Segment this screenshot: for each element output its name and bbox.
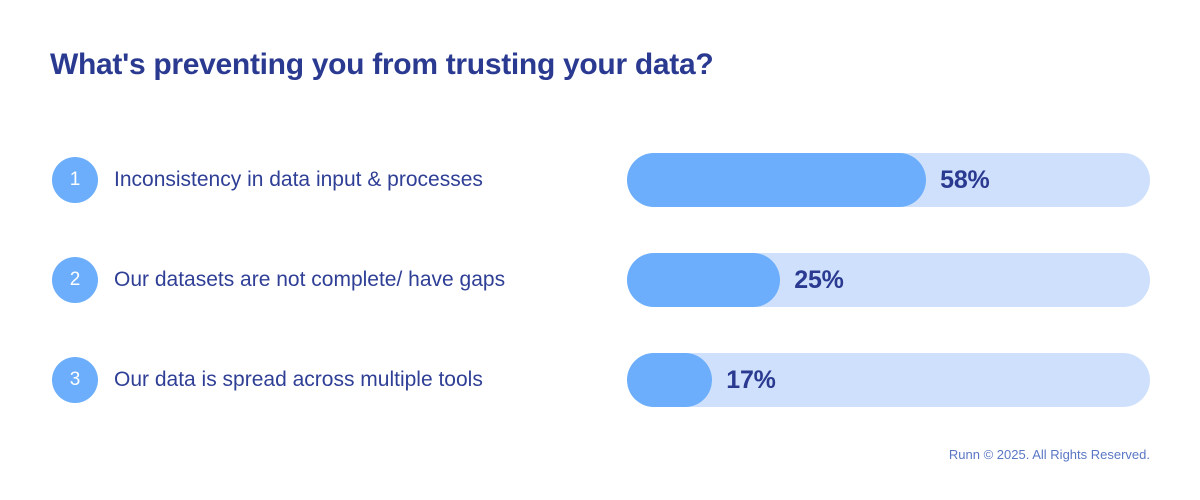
bar-category-label: Our datasets are not complete/ have gaps: [114, 253, 505, 307]
bar-chart: 1 Inconsistency in data input & processe…: [0, 153, 1200, 453]
rank-badge: 2: [52, 257, 98, 303]
bar-category-label: Inconsistency in data input & processes: [114, 153, 483, 207]
rank-badge: 1: [52, 157, 98, 203]
bar-track: 58%: [627, 153, 1150, 207]
bar-value-label: 25%: [794, 253, 843, 307]
bar-track: 17%: [627, 353, 1150, 407]
bar-track: 25%: [627, 253, 1150, 307]
chart-row: 3 Our data is spread across multiple too…: [0, 353, 1200, 407]
bar-value-label: 58%: [940, 153, 989, 207]
bar-value-label: 17%: [726, 353, 775, 407]
bar-category-label: Our data is spread across multiple tools: [114, 353, 483, 407]
chart-row: 2 Our datasets are not complete/ have ga…: [0, 253, 1200, 307]
infographic-page: What's preventing you from trusting your…: [0, 0, 1200, 500]
rank-badge: 3: [52, 357, 98, 403]
bar-fill: [627, 253, 780, 307]
page-title: What's preventing you from trusting your…: [50, 48, 713, 82]
bar-fill: [627, 153, 926, 207]
copyright-footer: Runn © 2025. All Rights Reserved.: [949, 447, 1150, 462]
chart-row: 1 Inconsistency in data input & processe…: [0, 153, 1200, 207]
bar-fill: [627, 353, 712, 407]
